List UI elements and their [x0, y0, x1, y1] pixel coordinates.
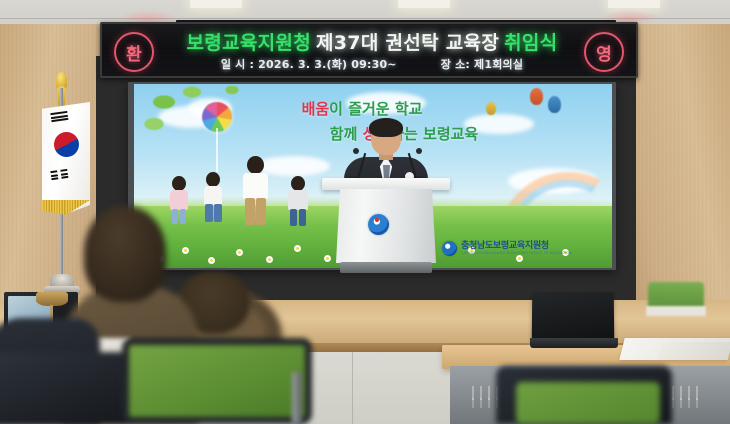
- ceiling-light-panel: [608, 0, 660, 8]
- korean-flag-stand: [30, 70, 94, 330]
- wood-wall-right: [626, 24, 730, 324]
- podium: [322, 178, 450, 274]
- banner-title-part-name: 제37대 권선탁 교육장: [316, 28, 499, 55]
- banner-title-line: 보령교육지원청 제37대 권선탁 교육장 취임식: [164, 29, 580, 54]
- chair-post: [292, 372, 302, 424]
- hot-air-balloon: [486, 102, 496, 115]
- education-office-name-en: CHUNGCHEONGNAMDO BORYEONG OFFICE OF EDUC…: [461, 252, 572, 256]
- banner-title-part-event: 취임식: [504, 28, 557, 55]
- daisy-flower: [182, 247, 189, 254]
- plant-tray: [646, 306, 706, 316]
- daisy-flower: [266, 256, 273, 263]
- attendee-head-left: [84, 206, 166, 302]
- hot-air-balloon: [530, 88, 543, 105]
- banner-place-label: 장 소: 제1회의실: [441, 56, 523, 72]
- speaker-hair: [369, 118, 403, 137]
- laptop-screen: [532, 292, 614, 340]
- led-banner: 환 영 보령교육지원청 제37대 권선탁 교육장 취임식 일 시 : 2026.…: [100, 22, 638, 78]
- leaf-decoration: [140, 84, 260, 150]
- banner-date-label: 일 시 : 2026. 3. 3.(화) 09:30~: [221, 56, 397, 72]
- cloud: [464, 114, 534, 134]
- banner-title-part-office: 보령교육지원청: [187, 28, 311, 55]
- cloud: [346, 92, 426, 114]
- hot-air-balloon: [548, 96, 561, 113]
- pinwheel-stick: [216, 128, 218, 172]
- banner-detail-line: 일 시 : 2026. 3. 3.(화) 09:30~ 장 소: 제1회의실: [164, 54, 580, 74]
- welcome-badge-left: 환: [114, 32, 154, 72]
- office-chair-left: [0, 352, 132, 424]
- daisy-flower: [236, 249, 243, 256]
- laptop-keyboard: [530, 338, 618, 348]
- daisy-flower: [294, 245, 301, 252]
- education-office-name-kr: 충청남도보령교육지원청: [461, 242, 572, 251]
- green-office-chair-right: [516, 382, 660, 424]
- child-figure: [166, 176, 192, 224]
- green-office-chair: [122, 338, 312, 424]
- microphone-head: [416, 148, 422, 154]
- ceiling-light-panel: [398, 0, 450, 8]
- daisy-flower: [208, 257, 215, 264]
- ceiling-light-panel: [190, 0, 242, 8]
- lamp-shade: [36, 292, 68, 306]
- microphone-head: [353, 148, 359, 154]
- photo-scene: 환 영 보령교육지원청 제37대 권선탁 교육장 취임식 일 시 : 2026.…: [0, 0, 730, 424]
- floor-seam: [352, 352, 353, 424]
- podium-top: [322, 178, 450, 190]
- welcome-badge-right: 영: [584, 32, 624, 72]
- child-figure: [284, 176, 312, 226]
- laptop-computer: [530, 292, 618, 350]
- education-office-logo: 충청남도보령교육지원청 CHUNGCHEONGNAMDO BORYEONG OF…: [442, 241, 572, 256]
- daisy-flower: [516, 255, 523, 262]
- child-figure: [238, 156, 272, 226]
- podium-base: [340, 262, 432, 273]
- child-figure: [200, 172, 226, 224]
- paper-documents: [658, 342, 730, 360]
- podium-emblem-icon: [368, 214, 389, 235]
